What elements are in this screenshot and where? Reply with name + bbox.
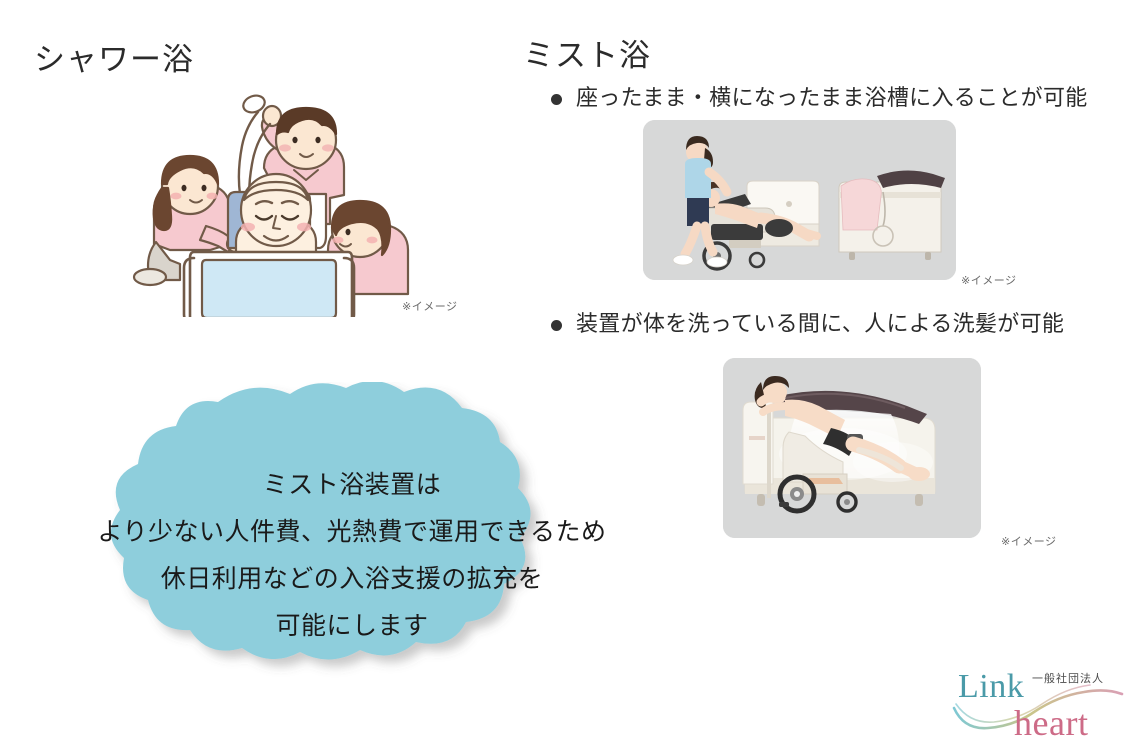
bullet-item-hair-washing: 装置が体を洗っている間に、人による洗髪が可能 (551, 310, 1064, 338)
organization-logo: Link heart 一般社団法人 (950, 664, 1126, 746)
mist-bath-in-use-photo-caption: ※イメージ (1001, 533, 1057, 549)
shower-bathing-illustration-svg (132, 82, 432, 317)
mist-bath-in-use-photo-svg (723, 358, 981, 538)
logo-word-heart: heart (1014, 702, 1088, 744)
shower-bathing-illustration (132, 82, 432, 317)
illustration-caption: ※イメージ (402, 298, 458, 314)
bullet-dot-icon (551, 94, 562, 105)
logo-word-link: Link (958, 668, 1024, 706)
logo-org-type: 一般社団法人 (1032, 670, 1104, 686)
cloud-callout: ミスト浴装置は より少ない人件費、光熱費で運用できるため 休日利用などの入浴支援… (22, 382, 682, 680)
bullet-dot-icon (551, 320, 562, 331)
bullet-item-seated-entry: 座ったまま・横になったまま浴槽に入ることが可能 (551, 84, 1088, 112)
page-title-shower-bathing: シャワー浴 (34, 34, 194, 79)
mist-bath-in-use-photo (723, 358, 981, 538)
mist-bath-transfer-photo-svg (643, 120, 956, 280)
bullet-item-label: 装置が体を洗っている間に、人による洗髪が可能 (576, 310, 1064, 338)
mist-bath-transfer-photo-caption: ※イメージ (961, 272, 1017, 288)
bullet-item-label: 座ったまま・横になったまま浴槽に入ることが可能 (576, 84, 1088, 112)
page-title-mist-bathing: ミスト浴 (523, 30, 651, 75)
cloud-shape-icon (22, 382, 682, 680)
mist-bath-transfer-photo (643, 120, 956, 280)
